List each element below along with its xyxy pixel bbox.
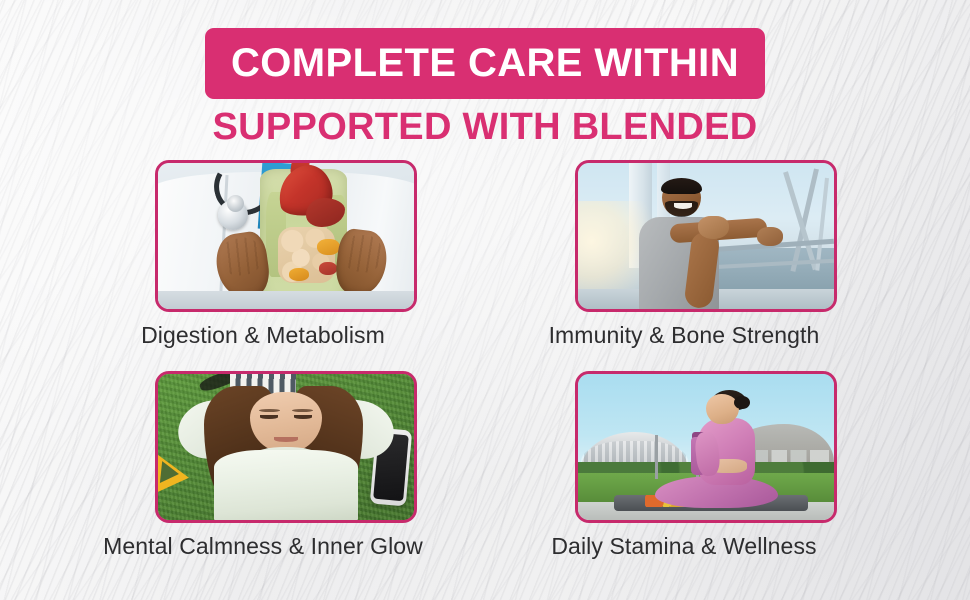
photo-frame[interactable]: [155, 371, 417, 523]
arm-stretch-photo: [578, 163, 834, 309]
outdoor-yoga-photo: [578, 374, 834, 520]
feature-caption: Digestion & Metabolism: [53, 322, 473, 348]
photo-frame[interactable]: [575, 160, 837, 312]
digestive-model-photo: [158, 163, 414, 309]
headline-block: COMPLETE CARE WITHIN SUPPORTED WITH BLEN…: [0, 28, 970, 148]
feature-grid: Digestion & Metabolism: [0, 160, 970, 580]
feature-item-mental-calmness-inner-glow[interactable]: Mental Calmness & Inner Glow: [53, 371, 485, 559]
photo-frame[interactable]: [575, 371, 837, 523]
page-title: COMPLETE CARE WITHIN: [205, 28, 765, 99]
feature-item-immunity-bone-strength[interactable]: Immunity & Bone Strength: [474, 160, 906, 348]
feature-caption: Immunity & Bone Strength: [474, 322, 894, 348]
feature-caption: Daily Stamina & Wellness: [474, 533, 894, 559]
photo-frame[interactable]: [155, 160, 417, 312]
feature-item-daily-stamina-wellness[interactable]: Daily Stamina & Wellness: [474, 371, 906, 559]
page-subtitle: SUPPORTED WITH BLENDED: [0, 108, 970, 148]
feature-item-digestion-metabolism[interactable]: Digestion & Metabolism: [53, 160, 485, 348]
relaxing-on-grass-photo: [158, 374, 414, 520]
feature-caption: Mental Calmness & Inner Glow: [53, 533, 473, 559]
promo-banner: COMPLETE CARE WITHIN SUPPORTED WITH BLEN…: [0, 0, 970, 600]
